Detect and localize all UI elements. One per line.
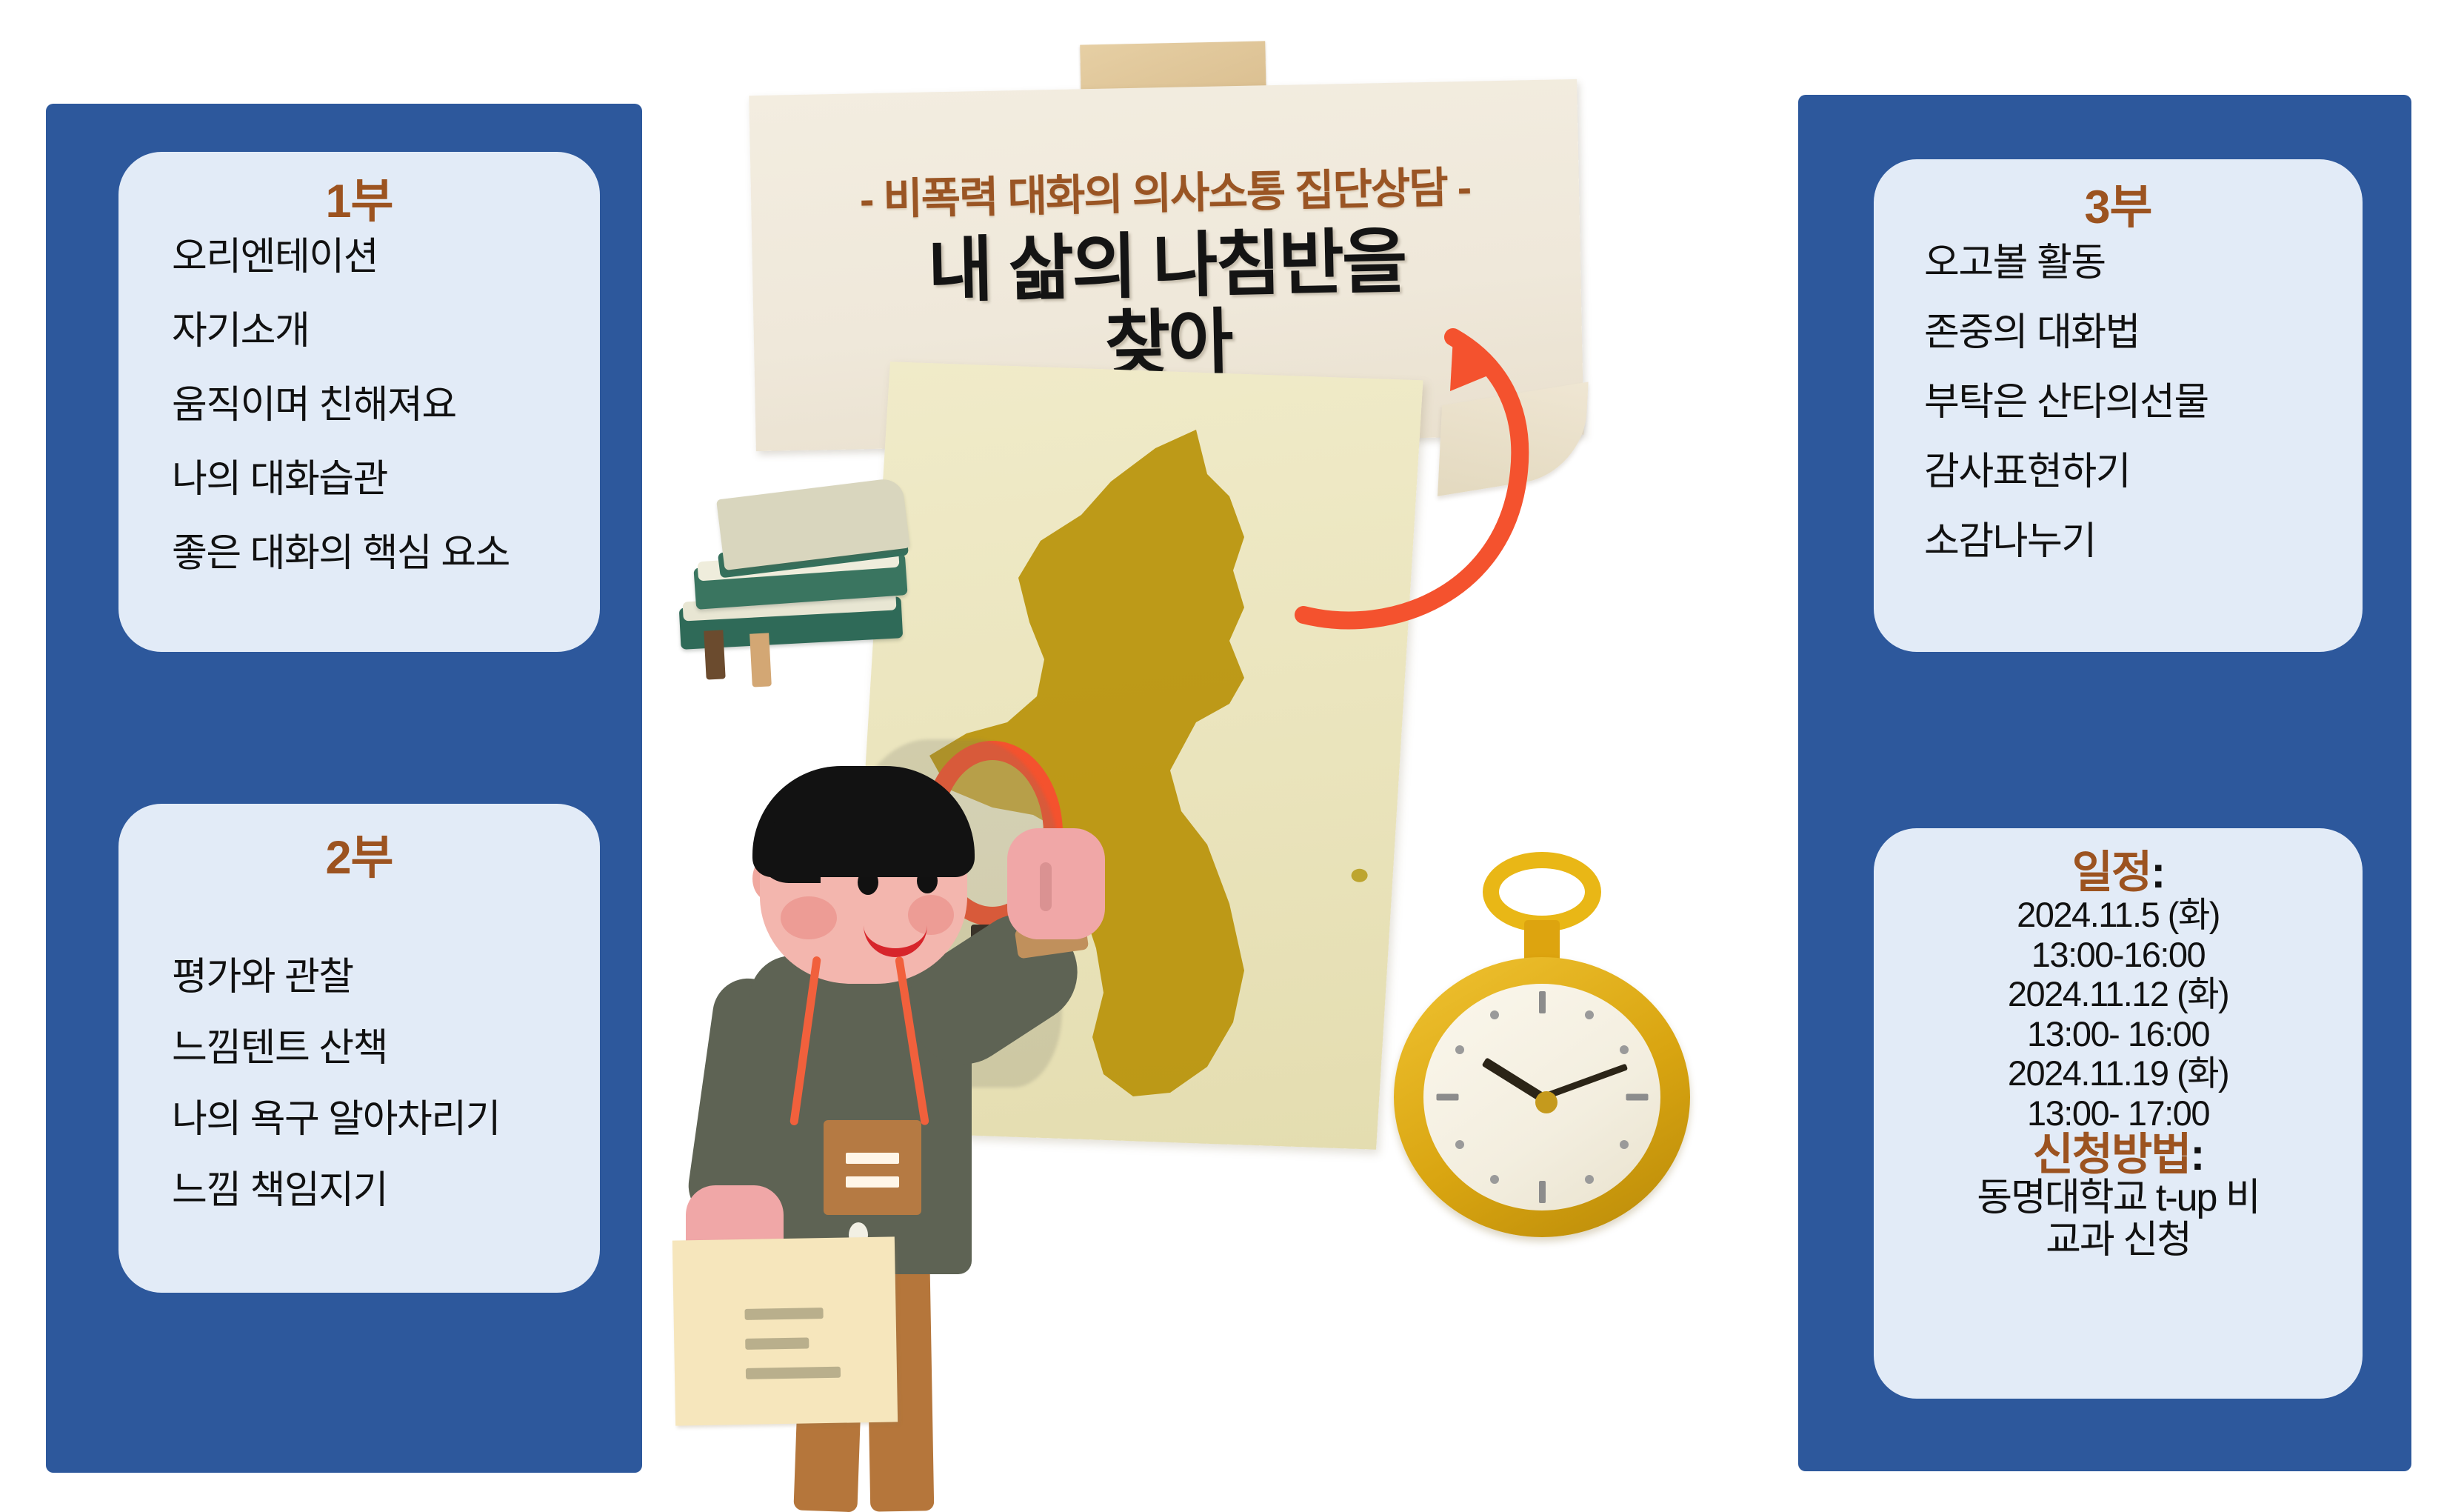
bookmark-dark [704, 630, 725, 679]
list-item: 오리엔테이션 [136, 238, 582, 276]
bookmark-light [749, 633, 772, 687]
watch-tick [1539, 991, 1546, 1013]
watch-tick [1455, 1045, 1464, 1054]
schedule-line: 13:00- 17:00 [2027, 1093, 2209, 1133]
section-card-part1: 1부 오리엔테이션 자기소개 움직이며 친해져요 나의 대화습관 좋은 대화의 … [118, 152, 600, 652]
list-item: 느낌 책임지기 [136, 1171, 582, 1210]
watch-tick [1539, 1181, 1546, 1203]
lanyard-strap-right [895, 956, 929, 1126]
apply-heading-colon: : [2190, 1130, 2203, 1179]
person-right-hand [1007, 828, 1105, 939]
pocket-watch-icon [1385, 852, 1711, 1237]
schedule-heading: 일정: [2072, 850, 2164, 895]
section-list-part3: 오고볼 활동 존중의 대화법 부탁은 산타의선물 감사표현하기 소감나누기 [1889, 244, 2348, 592]
poster-canvas: 1부 오리엔테이션 자기소개 움직이며 친해져요 나의 대화습관 좋은 대화의 … [0, 0, 2464, 1510]
section-title-part2: 2부 [326, 833, 393, 882]
list-item: 감사표현하기 [1889, 453, 2348, 491]
badge-line [846, 1176, 899, 1188]
list-item: 자기소개 [136, 312, 582, 350]
section-title-part1: 1부 [326, 177, 393, 226]
schedule-heading-colon: : [2151, 847, 2164, 897]
section-card-part3: 3부 오고볼 활동 존중의 대화법 부탁은 산타의선물 감사표현하기 소감나누기 [1874, 159, 2363, 652]
section-card-part2: 2부 평가와 관찰 느낌텐트 산책 나의 욕구 알아차리기 느낌 책임지기 [118, 804, 600, 1293]
watch-centre-pin [1535, 1091, 1557, 1113]
list-item: 좋은 대화의 핵심 요소 [136, 534, 582, 573]
list-item: 평가와 관찰 [136, 958, 582, 996]
list-item: 느낌텐트 산책 [136, 1029, 582, 1068]
schedule-line: 13:00- 16:00 [2027, 1014, 2209, 1054]
person-cheek-left [781, 896, 837, 939]
list-item: 소감나누기 [1889, 522, 2348, 561]
apply-line: 동명대학교 t-up 비 [1977, 1177, 2260, 1219]
watch-hour-hand [1482, 1057, 1545, 1102]
list-item: 부탁은 산타의선물 [1889, 383, 2348, 422]
list-item: 존중의 대화법 [1889, 313, 2348, 352]
schedule-line: 2024.11.5 (화) [2017, 895, 2220, 935]
document-sheet [672, 1236, 898, 1425]
watch-face [1423, 984, 1660, 1210]
watch-tick [1620, 1045, 1629, 1054]
schedule-line: 13:00-16:00 [2031, 935, 2205, 975]
section-list-part2: 평가와 관찰 느낌텐트 산책 나의 욕구 알아차리기 느낌 책임지기 [136, 958, 582, 1242]
watch-tick [1585, 1010, 1594, 1019]
book-stack-icon [672, 478, 924, 678]
person-illustration [681, 711, 1185, 1511]
watch-case [1394, 957, 1690, 1237]
watch-tick [1490, 1010, 1499, 1019]
section-title-part3: 3부 [2085, 183, 2152, 232]
document-line [744, 1308, 823, 1320]
list-item: 나의 대화습관 [136, 460, 582, 499]
lanyard-strap-left [789, 956, 821, 1125]
watch-tick [1490, 1175, 1499, 1184]
apply-line: 교과 신청 [2046, 1219, 2191, 1261]
apply-heading: 신청방법: [2033, 1133, 2204, 1177]
section-list-part1: 오리엔테이션 자기소개 움직이며 친해져요 나의 대화습관 좋은 대화의 핵심 … [136, 238, 582, 608]
list-item: 움직이며 친해져요 [136, 386, 582, 424]
schedule-line: 2024.11.19 (화) [2008, 1053, 2228, 1093]
watch-tick [1455, 1140, 1464, 1149]
lanyard [770, 956, 955, 1148]
id-badge [824, 1120, 921, 1215]
curved-arrow-icon [1281, 319, 1548, 637]
apply-heading-text: 신청방법 [2033, 1130, 2191, 1179]
centre-illustration: - 비폭력 대화의 의사소통 집단상담 - 내 삶의 나침반을 찾아 [637, 0, 1837, 1510]
document-line [745, 1337, 809, 1349]
watch-tick [1626, 1094, 1648, 1101]
poster-subtitle: - 비폭력 대화의 의사소통 집단상담 - [750, 150, 1579, 229]
watch-tick [1620, 1140, 1629, 1149]
schedule-card: 일정: 2024.11.5 (화) 13:00-16:00 2024.11.12… [1874, 828, 2363, 1399]
schedule-heading-text: 일정 [2072, 847, 2151, 897]
schedule-line: 2024.11.12 (화) [2008, 974, 2228, 1014]
badge-line [846, 1153, 899, 1164]
document-line [746, 1367, 841, 1379]
watch-tick [1585, 1175, 1594, 1184]
list-item: 오고볼 활동 [1889, 244, 2348, 282]
list-item: 나의 욕구 알아차리기 [136, 1100, 582, 1139]
watch-tick [1436, 1094, 1458, 1101]
